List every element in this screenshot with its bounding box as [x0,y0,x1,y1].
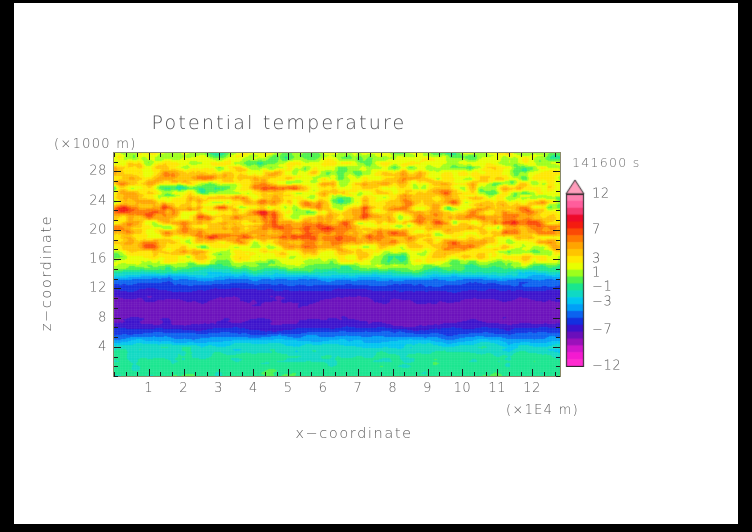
x-minor-tick-top [311,153,312,157]
y-major-tick [114,259,121,260]
x-minor-tick-top [521,153,522,157]
y-tick-label: 28 [77,164,107,179]
x-minor-tick [370,372,371,376]
x-tick-label: 12 [523,381,541,396]
x-minor-tick-top [277,153,278,157]
x-tick-label: 1 [144,381,153,396]
y-minor-tick [114,357,118,358]
x-tick-label: 7 [353,381,362,396]
x-minor-tick-top [416,153,417,157]
x-minor-tick-top [381,153,382,157]
y-minor-tick-right [556,269,560,270]
x-major-tick [184,369,185,376]
x-minor-tick [544,372,545,376]
timestamp-label: 141600 s [572,155,641,170]
y-minor-tick [114,181,118,182]
heatmap-field [114,153,560,376]
y-major-tick-right [553,201,560,202]
x-minor-tick [416,372,417,376]
x-minor-tick [300,372,301,376]
y-minor-tick [114,298,118,299]
y-minor-tick [114,327,118,328]
y-minor-tick-right [556,162,560,163]
y-major-tick [114,347,121,348]
x-major-tick [393,369,394,376]
x-major-tick-top [532,153,533,160]
colorbar-tick-label: 3 [592,251,601,266]
x-major-tick-top [184,153,185,160]
y-axis-unit-label: (×1000 m) [54,137,137,152]
y-minor-tick-right [556,298,560,299]
x-minor-tick [195,372,196,376]
x-minor-tick [242,372,243,376]
x-minor-tick-top [242,153,243,157]
y-minor-tick [114,240,118,241]
y-major-tick-right [553,171,560,172]
y-minor-tick-right [556,220,560,221]
colorbar-tick-label: −12 [592,359,621,374]
y-minor-tick [114,366,118,367]
x-major-tick [323,369,324,376]
x-tick-label: 11 [488,381,506,396]
y-minor-tick [114,376,118,377]
y-minor-tick-right [556,366,560,367]
y-minor-tick-right [556,337,560,338]
y-minor-tick-right [556,279,560,280]
colorbar-tick-label: −7 [592,323,612,338]
x-minor-tick-top [300,153,301,157]
y-axis-title: z−coordinate [39,193,55,353]
plot-area [113,152,561,377]
y-minor-tick-right [556,240,560,241]
x-major-tick [428,369,429,376]
colorbar-tick-label: 12 [592,187,610,202]
y-major-tick [114,288,121,289]
x-major-tick-top [149,153,150,160]
x-minor-tick-top [207,153,208,157]
x-minor-tick [207,372,208,376]
x-minor-tick [277,372,278,376]
x-minor-tick-top [160,153,161,157]
y-minor-tick-right [556,357,560,358]
x-minor-tick-top [509,153,510,157]
y-minor-tick [114,191,118,192]
y-minor-tick-right [556,181,560,182]
x-minor-tick-top [172,153,173,157]
y-minor-tick [114,249,118,250]
y-major-tick-right [553,288,560,289]
x-minor-tick [335,372,336,376]
y-major-tick-right [553,230,560,231]
x-minor-tick-top [439,153,440,157]
x-minor-tick-top [137,153,138,157]
x-major-tick-top [428,153,429,160]
x-axis-title: x−coordinate [214,426,494,442]
x-minor-tick [160,372,161,376]
y-tick-label: 20 [77,222,107,237]
x-minor-tick [474,372,475,376]
x-minor-tick-top [474,153,475,157]
x-major-tick [253,369,254,376]
x-tick-label: 4 [249,381,258,396]
x-minor-tick [486,372,487,376]
figure-page: Potential temperature (×1000 m) 141600 s… [14,3,738,524]
x-minor-tick-top [126,153,127,157]
page-title: Potential temperature [14,112,544,134]
x-minor-tick-top [404,153,405,157]
y-minor-tick [114,220,118,221]
x-minor-tick-top [451,153,452,157]
x-minor-tick [230,372,231,376]
x-minor-tick-top [346,153,347,157]
colorbar-tick-label: −3 [592,294,612,309]
x-tick-label: 6 [319,381,328,396]
x-minor-tick [311,372,312,376]
y-minor-tick [114,279,118,280]
x-major-tick [532,369,533,376]
y-major-tick-right [553,318,560,319]
y-minor-tick [114,162,118,163]
x-minor-tick [404,372,405,376]
y-major-tick-right [553,259,560,260]
y-minor-tick-right [556,210,560,211]
x-minor-tick-top [230,153,231,157]
x-major-tick-top [219,153,220,160]
y-minor-tick [114,337,118,338]
y-minor-tick-right [556,376,560,377]
y-tick-label: 4 [77,339,107,354]
x-axis-unit-label: (×1E4 m) [506,403,579,418]
x-major-tick [288,369,289,376]
x-minor-tick-top [555,153,556,157]
y-minor-tick-right [556,308,560,309]
x-minor-tick-top [265,153,266,157]
x-minor-tick [509,372,510,376]
x-minor-tick [126,372,127,376]
x-major-tick-top [323,153,324,160]
x-minor-tick [439,372,440,376]
y-minor-tick-right [556,327,560,328]
y-minor-tick [114,308,118,309]
x-tick-label: 5 [284,381,293,396]
x-major-tick-top [358,153,359,160]
x-major-tick-top [253,153,254,160]
y-major-tick [114,318,121,319]
x-minor-tick-top [335,153,336,157]
x-minor-tick-top [114,153,115,157]
y-minor-tick [114,269,118,270]
colorbar-tick-label: 1 [592,265,601,280]
y-major-tick [114,230,121,231]
x-tick-label: 2 [179,381,188,396]
x-major-tick [462,369,463,376]
x-major-tick-top [288,153,289,160]
y-minor-tick-right [556,249,560,250]
x-tick-label: 10 [454,381,472,396]
y-major-tick-right [553,347,560,348]
x-minor-tick-top [486,153,487,157]
colorbar-tick-label: 7 [592,222,601,237]
x-minor-tick-top [370,153,371,157]
x-major-tick [497,369,498,376]
x-major-tick [149,369,150,376]
x-minor-tick-top [544,153,545,157]
x-major-tick-top [462,153,463,160]
y-tick-label: 12 [77,281,107,296]
x-minor-tick [346,372,347,376]
x-tick-label: 3 [214,381,223,396]
x-major-tick [219,369,220,376]
y-minor-tick-right [556,191,560,192]
colorbar-tick-label: −1 [592,280,612,295]
x-major-tick-top [393,153,394,160]
x-tick-label: 9 [423,381,432,396]
x-minor-tick [521,372,522,376]
x-tick-label: 8 [388,381,397,396]
y-tick-label: 16 [77,252,107,267]
y-minor-tick [114,210,118,211]
y-tick-label: 8 [77,310,107,325]
y-tick-label: 24 [77,193,107,208]
x-minor-tick [451,372,452,376]
x-minor-tick [265,372,266,376]
y-major-tick [114,201,121,202]
colorbar-gradient [565,179,595,367]
x-minor-tick [381,372,382,376]
x-major-tick [358,369,359,376]
y-major-tick [114,171,121,172]
x-minor-tick-top [195,153,196,157]
x-minor-tick [172,372,173,376]
x-minor-tick [137,372,138,376]
x-major-tick-top [497,153,498,160]
